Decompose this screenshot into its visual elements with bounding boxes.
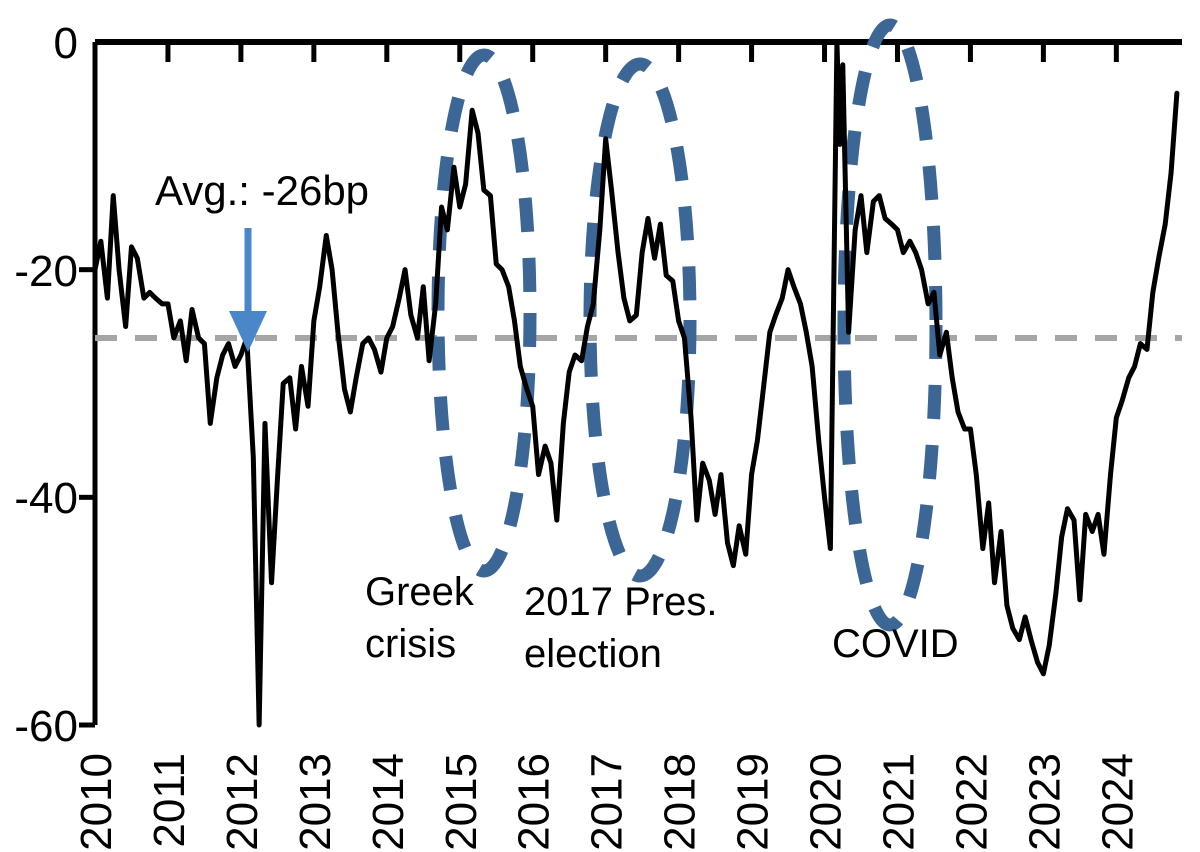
- x-tick-label-2015: 2015: [437, 753, 486, 851]
- y-tick-label-minus40: -40: [14, 474, 78, 523]
- greek-crisis-label-line2: crisis: [365, 622, 456, 666]
- greek-crisis-label-line1: Greek: [365, 570, 475, 614]
- y-tick-label-minus60: -60: [14, 702, 78, 751]
- y-tick-label-0: 0: [54, 19, 78, 68]
- x-tick-label-2021: 2021: [874, 753, 923, 851]
- x-tick-label-2010: 2010: [72, 753, 121, 851]
- x-axis-tick-labels: 2010201120122013201420152016201720182019…: [72, 753, 1142, 851]
- x-tick-label-2012: 2012: [218, 753, 267, 851]
- x-tick-label-2016: 2016: [510, 753, 559, 851]
- pres-election-label-line1: 2017 Pres.: [524, 580, 717, 624]
- line-chart: Avg.: -26bp Greek crisis 2017 Pres. elec…: [0, 0, 1200, 852]
- x-tick-label-2023: 2023: [1020, 753, 1069, 851]
- x-tick-label-2024: 2024: [1093, 753, 1142, 851]
- x-tick-label-2011: 2011: [145, 753, 194, 848]
- pres-election-label-line2: election: [524, 632, 662, 676]
- x-tick-label-2019: 2019: [729, 753, 778, 851]
- x-tick-label-2020: 2020: [802, 753, 851, 851]
- x-tick-label-2017: 2017: [583, 753, 632, 851]
- x-tick-label-2013: 2013: [291, 753, 340, 851]
- x-tick-label-2014: 2014: [364, 753, 413, 851]
- covid-label: COVID: [832, 622, 959, 666]
- x-tick-label-2022: 2022: [947, 753, 996, 851]
- average-annotation-label: Avg.: -26bp: [155, 167, 369, 214]
- chart-container: Avg.: -26bp Greek crisis 2017 Pres. elec…: [0, 0, 1200, 852]
- y-tick-label-minus20: -20: [14, 247, 78, 296]
- x-tick-label-2018: 2018: [656, 753, 705, 851]
